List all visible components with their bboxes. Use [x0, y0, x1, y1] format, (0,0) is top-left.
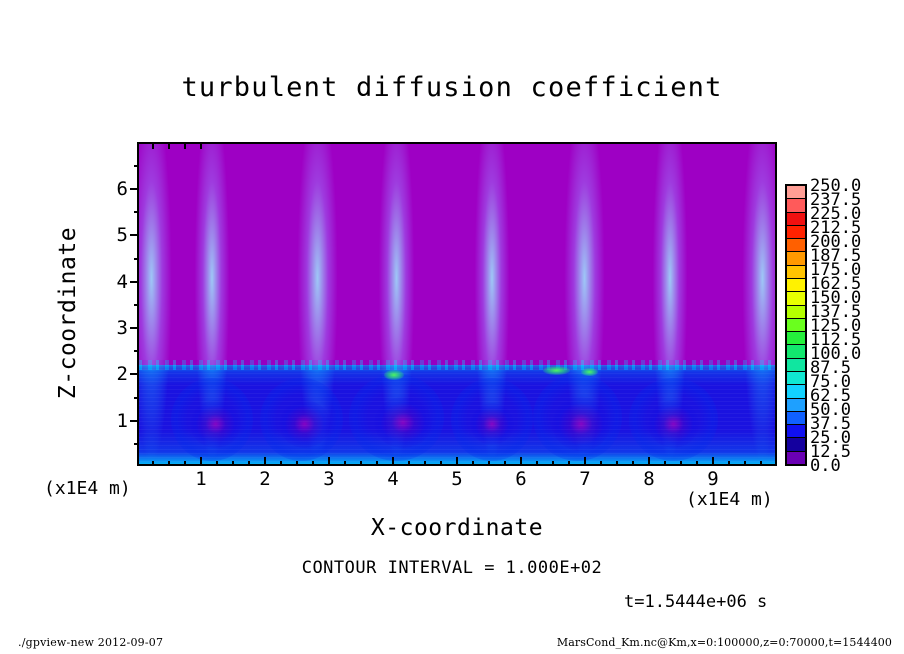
y-tick-major: [130, 327, 139, 329]
x-tick-major: [328, 457, 330, 466]
colorbar-band: [787, 385, 805, 398]
scalar-field-image: [139, 144, 775, 464]
x-tick-minor-top: [152, 144, 154, 149]
x-tick-major: [200, 457, 202, 466]
x-tick-label: 1: [186, 468, 216, 490]
colorbar-band: [787, 332, 805, 345]
x-tick-minor: [248, 461, 250, 466]
x-tick-minor: [376, 461, 378, 466]
x-tick-minor-top: [200, 144, 202, 149]
y-axis-unit-label: (x1E4 m): [44, 478, 131, 499]
x-tick-minor: [744, 461, 746, 466]
x-tick-minor: [184, 461, 186, 466]
colorbar-band: [787, 452, 805, 464]
x-tick-minor: [424, 461, 426, 466]
x-tick-label: 2: [250, 468, 280, 490]
x-tick-minor: [728, 461, 730, 466]
colorbar-band: [787, 239, 805, 252]
x-tick-minor: [168, 461, 170, 466]
y-tick-minor: [134, 397, 139, 399]
x-tick-minor: [568, 461, 570, 466]
colorbar-band: [787, 359, 805, 372]
y-tick-minor: [134, 443, 139, 445]
convection-cell-core: [279, 400, 330, 448]
page-title: turbulent diffusion coefficient: [0, 72, 904, 103]
y-tick-major: [130, 188, 139, 190]
x-tick-minor: [440, 461, 442, 466]
x-tick-major: [456, 457, 458, 466]
colorbar-band: [787, 438, 805, 451]
x-tick-minor: [312, 461, 314, 466]
x-tick-minor-top: [168, 144, 170, 149]
time-label: t=1.5444e+06 s: [624, 592, 767, 612]
y-tick-label: 4: [104, 271, 128, 293]
x-axis-unit-label: (x1E4 m): [686, 489, 773, 510]
x-axis-title: X-coordinate: [137, 515, 777, 541]
x-tick-minor: [472, 461, 474, 466]
plume-streak: [737, 144, 777, 464]
colorbar-band: [787, 226, 805, 239]
x-tick-minor: [632, 461, 634, 466]
y-tick-label: 5: [104, 224, 128, 246]
x-tick-minor: [232, 461, 234, 466]
x-tick-major: [712, 457, 714, 466]
colorbar[interactable]: [785, 184, 807, 466]
x-tick-minor: [408, 461, 410, 466]
gpview-plot-page: turbulent diffusion coefficient: [0, 0, 904, 654]
convection-cell-core: [552, 397, 609, 451]
y-tick-major: [130, 373, 139, 375]
contour-interval-label: CONTOUR INTERVAL = 1.000E+02: [0, 558, 904, 578]
x-tick-minor: [664, 461, 666, 466]
x-tick-label: 6: [506, 468, 536, 490]
high-value-patch: [581, 368, 598, 376]
x-tick-label: 5: [442, 468, 472, 490]
colorbar-band: [787, 345, 805, 358]
footer-dataset-label: MarsCond_Km.nc@Km,x=0:100000,z=0:70000,t…: [557, 636, 892, 649]
x-tick-minor: [696, 461, 698, 466]
x-tick-label: 7: [570, 468, 600, 490]
x-tick-minor: [504, 461, 506, 466]
x-tick-major: [520, 457, 522, 466]
x-tick-minor: [616, 461, 618, 466]
x-tick-minor: [488, 461, 490, 466]
x-tick-major: [392, 457, 394, 466]
y-tick-minor: [134, 350, 139, 352]
convection-cell-core: [190, 400, 241, 448]
convection-cell-core: [648, 400, 699, 448]
colorbar-band: [787, 252, 805, 265]
colorbar-band: [787, 399, 805, 412]
colorbar-band: [787, 199, 805, 212]
x-tick-minor: [360, 461, 362, 466]
colorbar-tick-label: 0.0: [810, 458, 841, 475]
x-tick-label: 4: [378, 468, 408, 490]
y-tick-minor: [134, 211, 139, 213]
y-tick-label: 2: [104, 363, 128, 385]
x-tick-minor: [280, 461, 282, 466]
convection-cell-core: [374, 397, 431, 448]
colorbar-band: [787, 186, 805, 199]
y-tick-label: 3: [104, 317, 128, 339]
colorbar-tick-labels: 250.0 237.5 225.0 212.5 200.0 187.5 175.…: [810, 184, 900, 466]
x-tick-major: [264, 457, 266, 466]
y-tick-label: 6: [104, 178, 128, 200]
y-tick-minor: [134, 165, 139, 167]
convection-cell-core: [470, 403, 515, 445]
colorbar-band: [787, 213, 805, 226]
x-tick-minor: [680, 461, 682, 466]
x-tick-major: [584, 457, 586, 466]
footer-command-label: ./gpview-new 2012-09-07: [18, 636, 163, 649]
x-tick-major: [648, 457, 650, 466]
y-tick-label: 1: [104, 410, 128, 432]
colorbar-band: [787, 372, 805, 385]
x-tick-label: 8: [634, 468, 664, 490]
colorbar-band: [787, 279, 805, 292]
x-tick-minor: [344, 461, 346, 466]
y-tick-minor: [134, 304, 139, 306]
colorbar-band: [787, 266, 805, 279]
y-tick-minor: [134, 258, 139, 260]
colorbar-band: [787, 292, 805, 305]
x-tick-minor: [152, 461, 154, 466]
x-tick-minor: [536, 461, 538, 466]
colorbar-band: [787, 306, 805, 319]
x-tick-minor: [760, 461, 762, 466]
colorbar-band: [787, 319, 805, 332]
x-tick-minor-top: [184, 144, 186, 149]
y-tick-major: [130, 234, 139, 236]
y-axis-title: Z-coordinate: [55, 213, 81, 413]
y-tick-major: [130, 281, 139, 283]
x-tick-minor: [296, 461, 298, 466]
x-tick-minor: [552, 461, 554, 466]
colorbar-band: [787, 412, 805, 425]
contour-plot-area[interactable]: [137, 142, 777, 466]
x-tick-label: 9: [698, 468, 728, 490]
y-tick-major: [130, 420, 139, 422]
x-tick-minor: [600, 461, 602, 466]
colorbar-band: [787, 425, 805, 438]
x-tick-label: 3: [314, 468, 344, 490]
x-tick-minor: [216, 461, 218, 466]
